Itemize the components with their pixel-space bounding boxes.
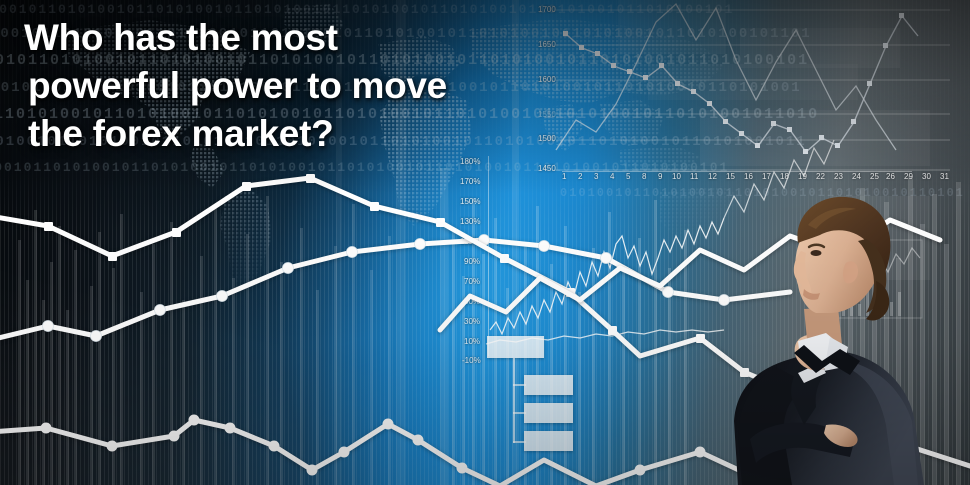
headline-line-1: Who has the most	[24, 14, 447, 62]
headline-line-2: powerful power to move	[28, 62, 447, 110]
page-title: Who has the most powerful power to move …	[24, 14, 447, 158]
forex-banner: 0101001011010100101101010010110101001011…	[0, 0, 970, 485]
headline-line-3: the forex market?	[28, 110, 447, 158]
